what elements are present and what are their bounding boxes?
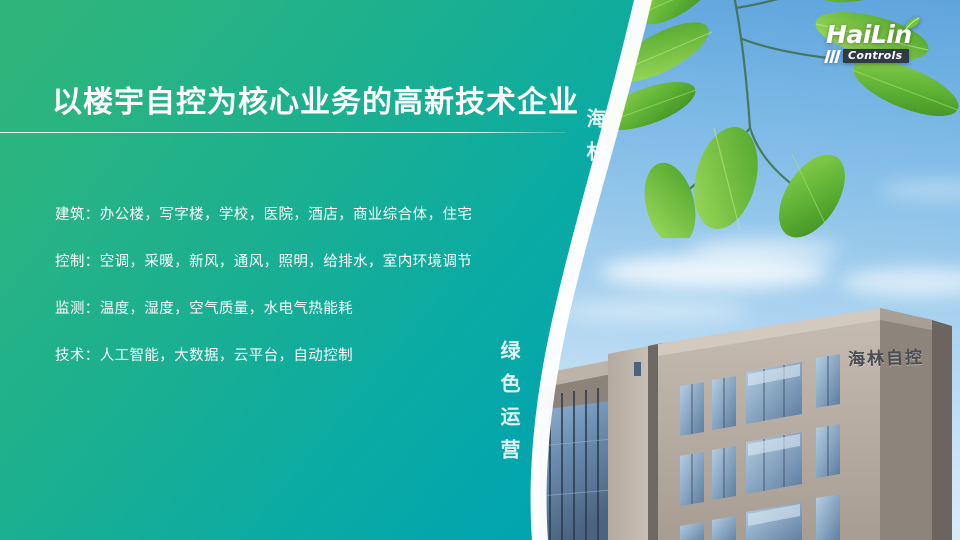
- leaf-icon: [904, 17, 921, 30]
- logo-wordmark: HaiLin: [826, 22, 948, 47]
- title-divider: [0, 132, 566, 133]
- vertical-slogan-bottom: 绿色运营: [492, 340, 525, 472]
- logo-subbrand: Controls: [826, 49, 948, 63]
- building-signage: 海林自控: [847, 343, 924, 370]
- feature-list: 建筑：办公楼，写字楼，学校，医院，酒店，商业综合体，住宅 控制：空调，采暖，新风…: [55, 206, 525, 365]
- list-item: 建筑：办公楼，写字楼，学校，医院，酒店，商业综合体，住宅: [55, 206, 525, 224]
- list-item: 技术：人工智能，大数据，云平台，自动控制: [55, 347, 525, 365]
- page-title: 以楼宇自控为核心业务的高新技术企业: [52, 85, 579, 121]
- logo-subbrand-label: Controls: [843, 49, 909, 63]
- cloud-shape: [690, 238, 840, 262]
- slide-canvas: 海林自控: [0, 0, 960, 540]
- brand-logo[interactable]: HaiLin Controls: [826, 22, 948, 63]
- vertical-slogan-top: 海林: [578, 108, 611, 174]
- list-item: 控制：空调，采暖，新风，通风，照明，给排水，室内环境调节: [55, 253, 525, 271]
- bars-icon: [826, 49, 843, 63]
- list-item: 监测：温度，湿度，空气质量，水电气热能耗: [55, 300, 525, 318]
